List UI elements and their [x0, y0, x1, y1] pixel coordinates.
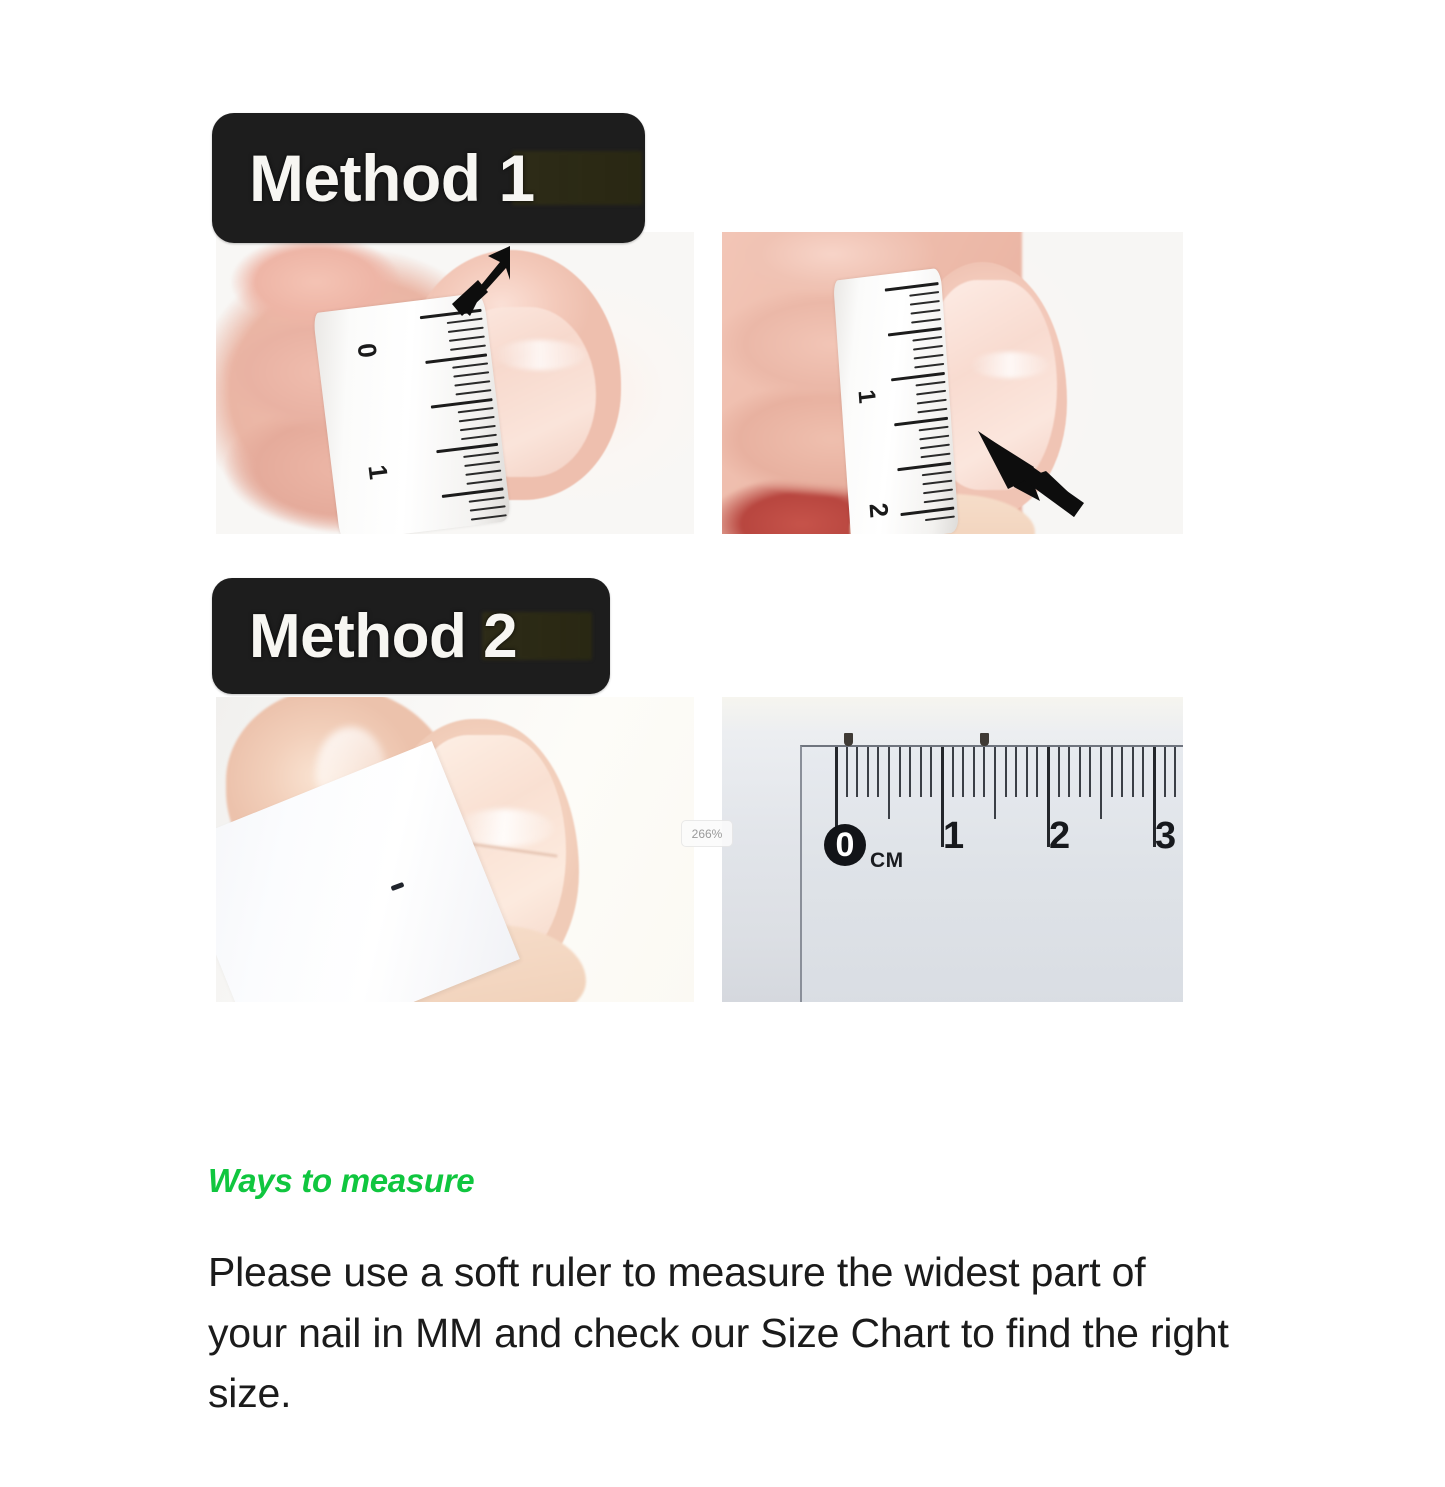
ruler-notch-1: [844, 733, 853, 746]
ruler-unit-label: CM: [870, 849, 904, 873]
pointer-arrow-icon: [448, 240, 518, 320]
method-1-badge: Method 1: [212, 113, 645, 243]
size-guide-page: 0 1 1 2: [0, 0, 1445, 1487]
photo-method1-step2: 1 2: [722, 232, 1183, 534]
ruler-number-2: 2: [1049, 815, 1070, 858]
method-1-label: Method 1: [249, 140, 535, 216]
zoom-level-badge[interactable]: 266%: [681, 820, 733, 847]
measuring-tape-band: 0 1: [313, 292, 512, 534]
measure-instructions-paragraph: Please use a soft ruler to measure the w…: [208, 1242, 1230, 1424]
ruler-zero-badge: 0: [824, 824, 866, 866]
nail-highlight: [494, 340, 586, 370]
tape-tick-marks: [313, 292, 512, 534]
ways-to-measure-heading: Ways to measure: [208, 1162, 1238, 1200]
photo-method1-step1: 0 1: [216, 232, 694, 534]
method-2-label: Method 2: [249, 601, 517, 672]
ruler-number-1: 1: [943, 815, 964, 858]
ruler-number-3: 3: [1155, 815, 1176, 858]
measure-info-block: Ways to measure Please use a soft ruler …: [208, 1162, 1238, 1424]
photo-method2-step2: 0 CM 1 2 3: [722, 697, 1183, 1002]
method-2-badge: Method 2: [212, 578, 610, 694]
pointer-arrow-icon: [974, 427, 1094, 522]
nail-highlight: [970, 352, 1050, 378]
measuring-tape-band: 1 2: [833, 268, 959, 534]
ruler-notch-2: [980, 733, 989, 746]
photo-method2-step1: [216, 697, 694, 1002]
